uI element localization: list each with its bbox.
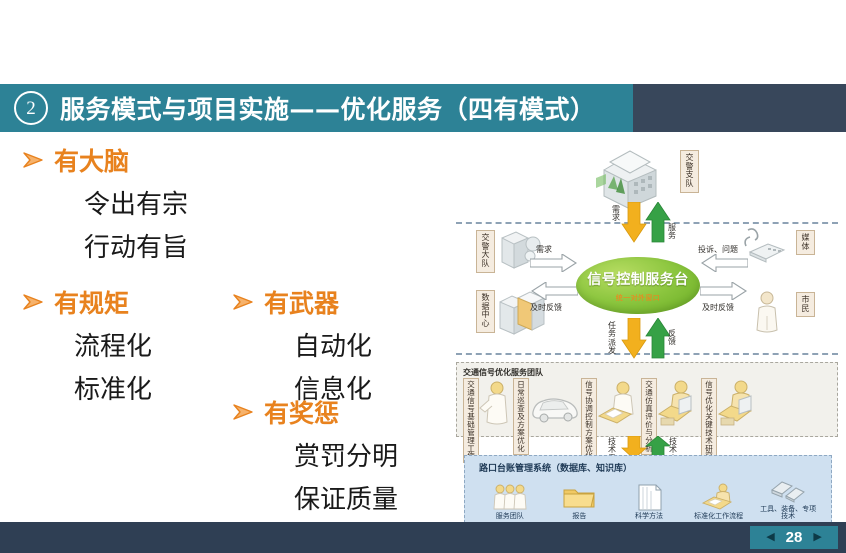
- team-item-list: 交通信号基础管理工作 日常巡查及方案优化: [461, 378, 835, 434]
- team-item-label: 信号优化关键技术研究: [701, 378, 717, 463]
- team-item-label: 日常巡查及方案优化: [513, 378, 529, 455]
- bullet-sub-line: 令出有宗: [84, 184, 188, 221]
- vertical-flow-arrows-bottom: [618, 318, 674, 360]
- computer-analyst-icon: [657, 378, 701, 428]
- bullet-heading-brain: 有大脑: [22, 142, 188, 178]
- bullet-heading-rules: 有规矩: [22, 284, 152, 320]
- node-label-traffic-police-brigade: 交警大队: [476, 230, 495, 273]
- arrow-feedback-to-citizen: [700, 282, 748, 300]
- team-item-art: [657, 378, 701, 430]
- bullet-sub-line: 行动有旨: [84, 227, 188, 264]
- ledger-item: 标准化工作流程: [688, 483, 750, 521]
- bullet-group-reward: 有奖惩 赏罚分明 保证质量: [232, 394, 398, 516]
- ledger-band-title: 路口台账管理系统（数据库、知识库）: [479, 461, 632, 474]
- ledger-item: 报告: [548, 483, 610, 521]
- ledger-item: 科学方法: [618, 483, 680, 521]
- next-page-arrow-icon[interactable]: ▶: [813, 532, 821, 543]
- center-node-signal-control-service-desk: 信号控制服务台 统一对外窗口: [576, 257, 700, 314]
- arrow-demand-to-center: [530, 254, 578, 272]
- chevron-right-arrow-icon: [22, 151, 44, 169]
- node-label-traffic-police-detachment: 交警支队: [680, 150, 699, 193]
- bullet-sub-line: 赏罚分明: [294, 436, 398, 473]
- bullet-group-rules: 有规矩 流程化 标准化: [22, 284, 152, 406]
- node-label-media: 媒体: [796, 230, 815, 255]
- team-item-art: [479, 378, 513, 430]
- team-item-art: [717, 378, 761, 430]
- bullet-heading-label: 有大脑: [54, 142, 129, 178]
- slide-canvas: 2 服务模式与项目实施——优化服务（四有模式） 有大脑 令出有宗 行动有旨 有规…: [0, 0, 846, 553]
- flow-label-task-dispatch: 任务派发: [608, 322, 617, 356]
- team-band: 交通信号优化服务团队 交通信号基础管理工作 日常巡查及方案优化: [456, 362, 838, 437]
- ledger-item-art: [631, 483, 667, 511]
- bullet-group-brain: 有大脑 令出有宗 行动有旨: [22, 142, 188, 264]
- ledger-band: 路口台账管理系统（数据库、知识库） 服务团队: [464, 455, 832, 523]
- ledger-item-label: 科学方法: [635, 513, 663, 521]
- slide-title-bar: 2 服务模式与项目实施——优化服务（四有模式）: [0, 84, 846, 132]
- arrow-feedback-to-brigade: [530, 282, 578, 300]
- team-item-label: 交通信号基础管理工作: [463, 378, 479, 463]
- team-item: 交通仿真评价与分析: [641, 378, 701, 434]
- desk-worker-icon: [597, 378, 641, 428]
- bullet-sub-line: 流程化: [74, 326, 152, 363]
- flow-label-service-up: 服务: [668, 224, 677, 241]
- team-item-art: [597, 378, 641, 430]
- previous-page-arrow-icon[interactable]: ◀: [766, 532, 774, 543]
- bullet-heading-label: 有武器: [264, 284, 339, 320]
- vertical-flow-arrows-top: [618, 202, 674, 244]
- team-band-title: 交通信号优化服务团队: [463, 367, 543, 378]
- arrow-complaint-to-center: [700, 254, 748, 272]
- node-label-data-center: 数据中心: [476, 290, 495, 333]
- ledger-item-label: 服务团队: [496, 513, 524, 521]
- engineer-figure-icon: [479, 378, 513, 430]
- bullet-group-weapon: 有武器 自动化 信息化: [232, 284, 372, 406]
- flow-label-feedback-left: 及时反馈: [530, 302, 562, 313]
- flow-label-demand-left: 需求: [536, 244, 552, 255]
- ledger-item-label: 工具、装备、专项技术: [757, 506, 819, 521]
- chevron-right-arrow-icon: [232, 403, 254, 421]
- bullet-sub-line: 标准化: [74, 369, 152, 406]
- team-people-icon: [492, 483, 528, 511]
- ledger-item-art: [701, 483, 737, 511]
- bullet-heading-label: 有规矩: [54, 284, 129, 320]
- ledger-item-label: 报告: [572, 513, 586, 521]
- ledger-item-label: 标准化工作流程: [694, 513, 743, 521]
- flow-label-complaint-right: 投诉、问题: [698, 244, 738, 255]
- chevron-right-arrow-icon: [232, 293, 254, 311]
- center-node-title: 信号控制服务台: [587, 269, 689, 289]
- page-navigation[interactable]: ◀ 28 ▶: [750, 526, 838, 549]
- ledger-item-list: 服务团队 报告: [475, 475, 823, 521]
- bullet-sub-line: 自动化: [294, 326, 372, 363]
- team-item: 信号优化关键技术研究: [701, 378, 761, 434]
- title-bar-navy-section: [633, 84, 846, 132]
- bullet-heading-weapon: 有武器: [232, 284, 372, 320]
- ledger-item-art: [492, 483, 528, 511]
- node-label-citizen: 市民: [796, 292, 815, 317]
- workflow-desk-icon: [701, 483, 737, 511]
- bullet-sub-line: 保证质量: [294, 479, 398, 516]
- laptop-tools-icon: [770, 476, 806, 504]
- bullet-heading-label: 有奖惩: [264, 394, 339, 430]
- section-number-badge: 2: [14, 91, 48, 125]
- center-node-subtitle: 统一对外窗口: [616, 293, 660, 303]
- document-icon: [631, 483, 667, 511]
- ledger-item: 工具、装备、专项技术: [757, 476, 819, 521]
- service-model-diagram: 交警支队 需求 服务 交警大队 数据中心: [452, 140, 842, 525]
- flow-label-demand-down: 需求: [612, 206, 621, 223]
- citizen-person-icon: [754, 290, 780, 334]
- flow-label-feedback-right: 及时反馈: [702, 302, 734, 313]
- research-worker-icon: [717, 378, 761, 428]
- team-item: 日常巡查及方案优化: [513, 378, 581, 434]
- flow-label-feedback-up: 反馈: [668, 330, 677, 347]
- team-item-art: [529, 378, 581, 430]
- team-item: 交通信号基础管理工作: [463, 378, 513, 434]
- chevron-right-arrow-icon: [22, 293, 44, 311]
- page-number: 28: [786, 530, 803, 545]
- ledger-item-art: [561, 483, 597, 511]
- ledger-item-art: [770, 476, 806, 504]
- folder-icon: [561, 483, 597, 511]
- car-icon: [529, 386, 581, 426]
- team-item: 信号协调控制方案优化: [581, 378, 641, 434]
- ledger-item: 服务团队: [479, 483, 541, 521]
- title-bar-teal-section: 2 服务模式与项目实施——优化服务（四有模式）: [0, 84, 633, 132]
- page-title: 服务模式与项目实施——优化服务（四有模式）: [60, 90, 596, 126]
- slide-footer-bar: ◀ 28 ▶: [0, 522, 846, 553]
- bullet-heading-reward: 有奖惩: [232, 394, 398, 430]
- building-icon: [590, 148, 666, 210]
- team-item-label: 信号协调控制方案优化: [581, 378, 597, 463]
